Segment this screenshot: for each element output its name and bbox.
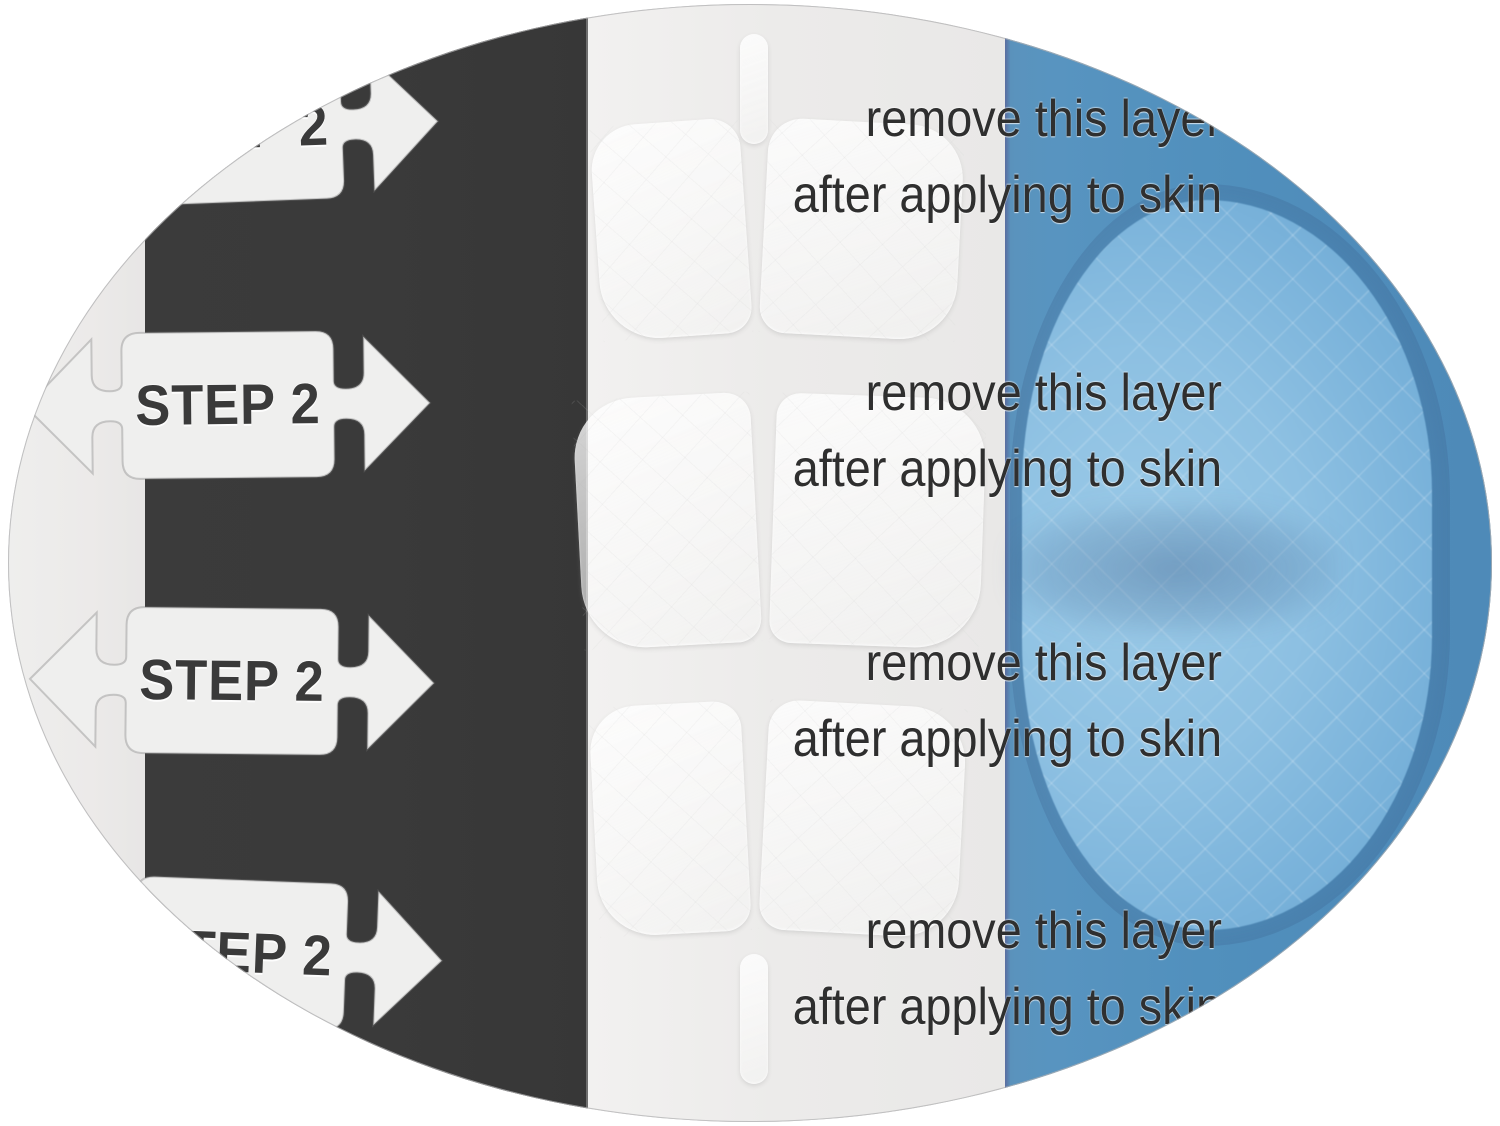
instruction-row-3: remove this layer after applying to skin: [655, 626, 1222, 778]
image-canvas: STEP 2 STEP 2 STEP 2 STEP 2: [0, 0, 1500, 1126]
instruction-line-1: remove this layer: [866, 902, 1222, 960]
instruction-line-2: after applying to skin: [655, 432, 1222, 508]
bandage-oval-body: STEP 2 STEP 2 STEP 2 STEP 2: [8, 4, 1492, 1122]
instruction-line-2: after applying to skin: [655, 702, 1222, 778]
instruction-line-1: remove this layer: [866, 90, 1222, 148]
instruction-row-4: remove this layer after applying to skin: [655, 894, 1222, 1046]
instruction-line-1: remove this layer: [866, 364, 1222, 422]
instruction-line-2: after applying to skin: [655, 970, 1222, 1046]
instruction-row-2: remove this layer after applying to skin: [655, 356, 1222, 508]
instruction-row-1: remove this layer after applying to skin: [655, 82, 1222, 234]
instruction-line-1: remove this layer: [866, 634, 1222, 692]
instruction-text-group: remove this layer after applying to skin…: [8, 4, 1492, 1122]
instruction-line-2: after applying to skin: [655, 158, 1222, 234]
